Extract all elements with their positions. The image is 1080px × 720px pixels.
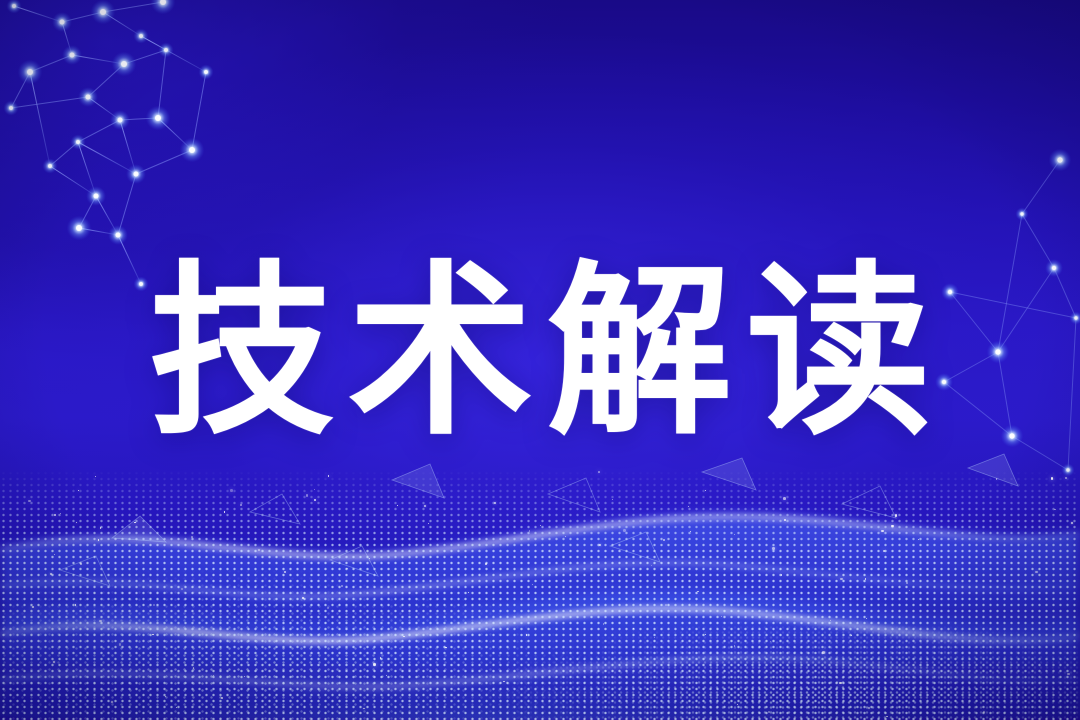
sparkle-point bbox=[428, 523, 429, 524]
wave-dot-grid-highlight bbox=[0, 560, 1080, 720]
sparkle-point bbox=[881, 530, 884, 533]
sparkle-point bbox=[822, 651, 825, 654]
sparkle-point bbox=[772, 547, 775, 550]
sparkle-point bbox=[341, 585, 343, 587]
network-left-nodes bbox=[4, 0, 214, 291]
sparkle-point bbox=[598, 471, 600, 473]
sparkle-point bbox=[895, 514, 897, 516]
sparkle-point bbox=[783, 497, 786, 500]
sparkle-point bbox=[770, 641, 771, 642]
network-left-edges bbox=[11, 2, 206, 284]
sparkle-point bbox=[1067, 673, 1070, 676]
sparkle-point bbox=[445, 647, 447, 649]
sparkle-point bbox=[768, 711, 770, 713]
sparkle-point bbox=[424, 505, 426, 507]
sparkle-point bbox=[28, 500, 30, 502]
sparkle-point bbox=[95, 476, 96, 477]
sparkle-point bbox=[80, 563, 82, 565]
sparkle-point bbox=[654, 637, 655, 638]
sparkle-point bbox=[363, 708, 365, 710]
sparkle-point bbox=[868, 707, 870, 709]
sparkle-point bbox=[302, 597, 304, 599]
sparkle-point bbox=[705, 634, 706, 635]
sparkle-point bbox=[59, 538, 61, 540]
banner-root: 技术解读 bbox=[0, 0, 1080, 720]
sparkle-point bbox=[230, 489, 233, 492]
sparkle-point bbox=[314, 499, 316, 501]
sparkle-point bbox=[191, 536, 193, 538]
sparkle-point bbox=[705, 490, 706, 491]
sparkle-point bbox=[54, 514, 56, 516]
sparkle-point bbox=[623, 529, 626, 532]
sparkle-point bbox=[840, 578, 842, 580]
sparkle-point bbox=[258, 549, 260, 551]
particle-wave-mesh bbox=[0, 420, 1080, 720]
sparkle-point bbox=[373, 663, 375, 665]
sparkle-point bbox=[1051, 477, 1053, 479]
sparkle-point bbox=[651, 565, 652, 566]
sparkle-point bbox=[284, 571, 286, 573]
sparkle-point bbox=[306, 494, 308, 496]
sparkle-point bbox=[53, 661, 56, 664]
sparkle-point bbox=[1065, 477, 1067, 479]
sparkle-point bbox=[688, 506, 689, 507]
sparkle-point bbox=[1071, 522, 1073, 524]
sparkle-point bbox=[866, 618, 867, 619]
sparkle-point bbox=[603, 623, 605, 625]
sparkle-point bbox=[1035, 571, 1038, 574]
sparkle-point bbox=[181, 588, 183, 590]
sparkle-point bbox=[883, 550, 885, 552]
sparkle-point bbox=[380, 657, 381, 658]
